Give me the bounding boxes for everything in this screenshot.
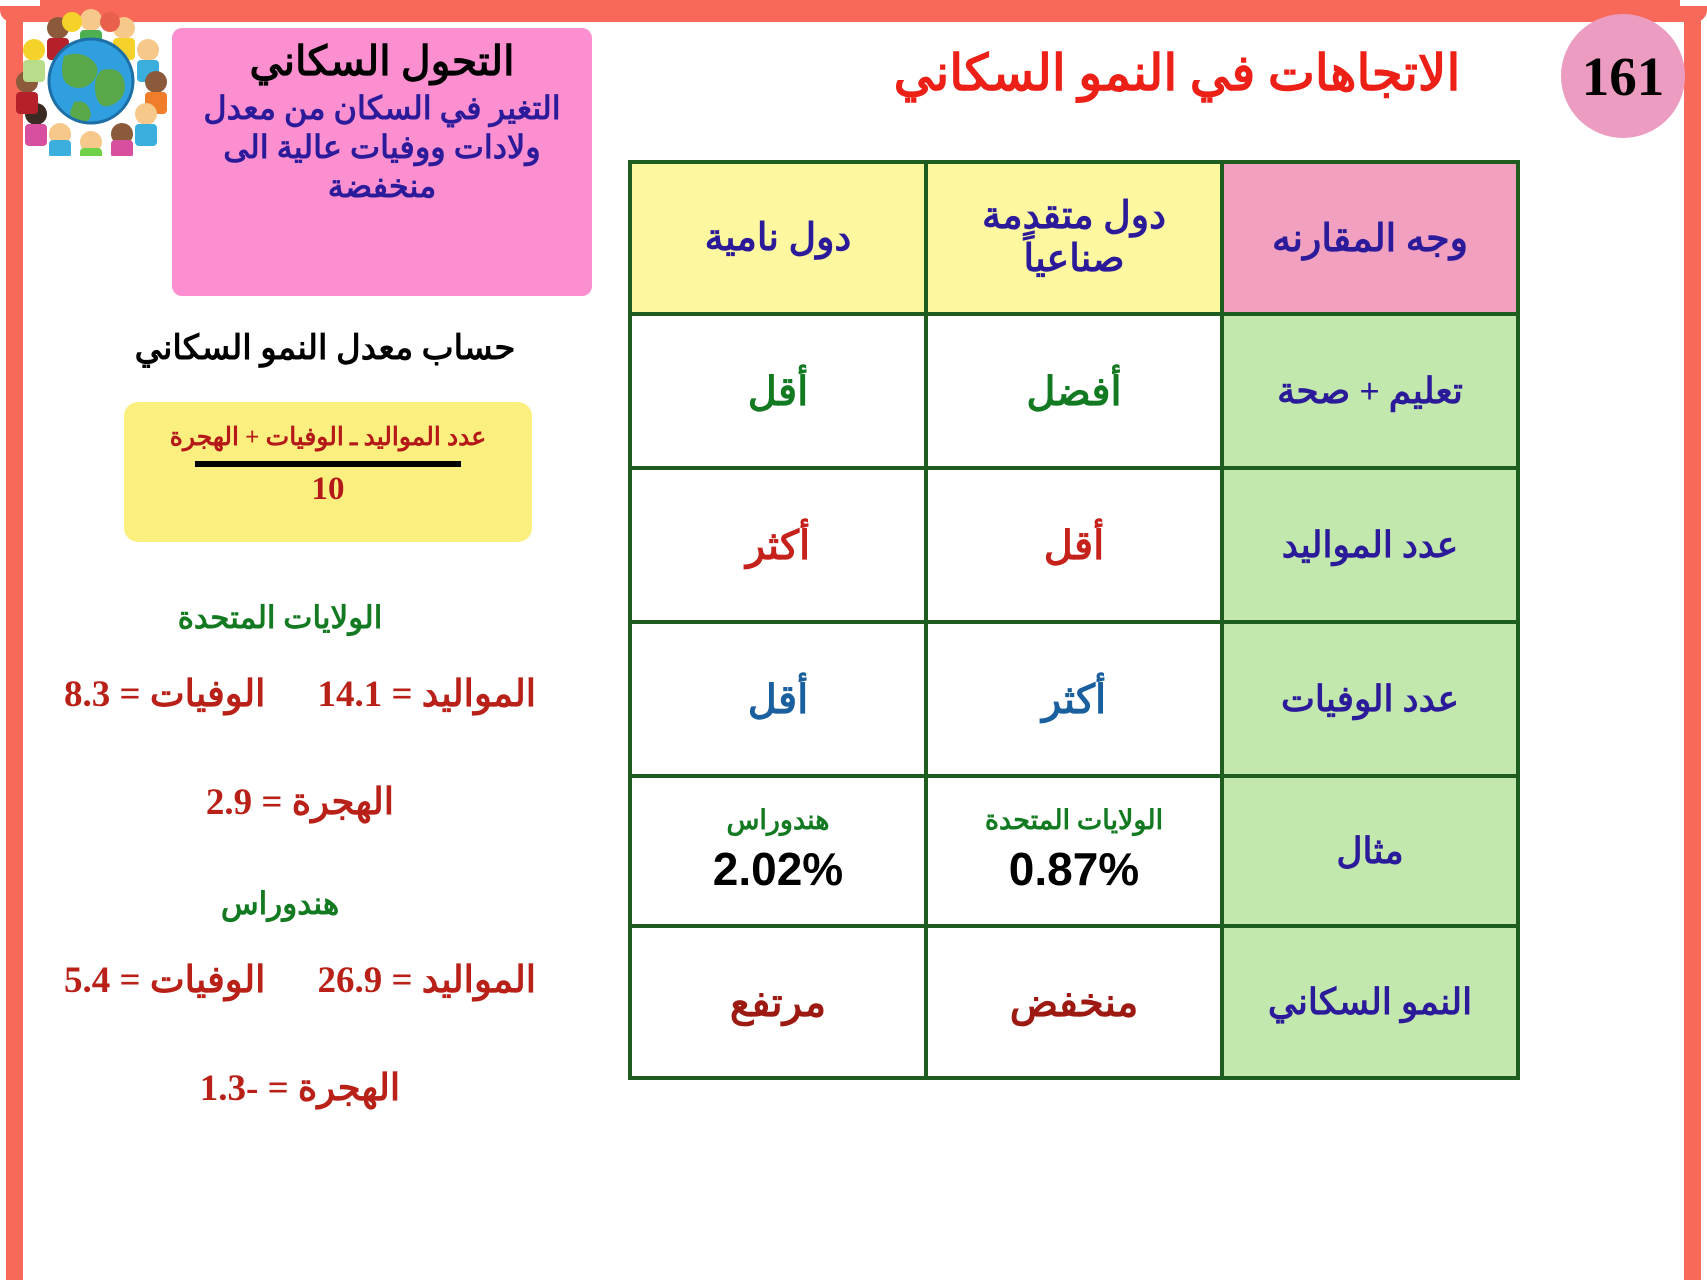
frame-top-bar: [0, 6, 1707, 22]
example-value-honduras: 2.02%: [632, 842, 924, 896]
honduras-country-label: هندوراس: [0, 886, 560, 922]
cell-developing-births: أكثر: [630, 468, 926, 622]
row-aspect-population-growth: النمو السكاني: [1222, 926, 1518, 1078]
usa-migration-label: الهجرة = 2.9: [0, 780, 600, 824]
cell-developing-example: هندوراس 2.02%: [630, 776, 926, 926]
table-row: عدد المواليد أقل أكثر: [630, 468, 1518, 622]
row-aspect-deaths: عدد الوفيات: [1222, 622, 1518, 776]
page-number-badge: 161: [1561, 14, 1685, 138]
frame-right-bar: [1684, 14, 1701, 1280]
honduras-births-label: المواليد = 26.9: [317, 958, 536, 1002]
table-row: عدد الوفيات أكثر أقل: [630, 622, 1518, 776]
cell-developing-growth: مرتفع: [630, 926, 926, 1078]
cell-industrial-example: الولايات المتحدة 0.87%: [926, 776, 1222, 926]
honduras-migration-label: الهجرة = -1.3: [0, 1066, 600, 1110]
usa-birth-death-row: المواليد = 14.1 الوفيات = 8.3: [0, 672, 600, 716]
example-value-usa: 0.87%: [928, 842, 1220, 896]
concept-definition-box: التحول السكاني التغير في السكان من معدل …: [172, 28, 592, 296]
slide-canvas: 161 الاتجاهات في النمو السكاني التحول ال…: [0, 0, 1707, 1280]
cell-industrial-births: أقل: [926, 468, 1222, 622]
row-aspect-births: عدد المواليد: [1222, 468, 1518, 622]
honduras-birth-death-row: المواليد = 26.9 الوفيات = 5.4: [0, 958, 600, 1002]
calculation-heading: حساب معدل النمو السكاني: [90, 328, 560, 368]
table-row: النمو السكاني منخفض مرتفع: [630, 926, 1518, 1078]
table-header-row: وجه المقارنه دول متقدمة صناعياً دول نامي…: [630, 162, 1518, 314]
formula-denominator: 10: [312, 471, 345, 508]
cell-industrial-growth: منخفض: [926, 926, 1222, 1078]
header-aspect: وجه المقارنه: [1222, 162, 1518, 314]
formula-divider-line: [195, 461, 461, 467]
usa-deaths-label: الوفيات = 8.3: [64, 672, 265, 716]
comparison-table: وجه المقارنه دول متقدمة صناعياً دول نامي…: [628, 160, 1520, 1080]
example-country-usa: الولايات المتحدة: [928, 806, 1220, 836]
concept-heading: التحول السكاني: [186, 38, 578, 85]
concept-body-text: التغير في السكان من معدل ولادات ووفيات ع…: [186, 89, 578, 206]
formula-numerator: عدد المواليد ـ الوفيات + الهجرة: [170, 422, 486, 452]
usa-births-label: المواليد = 14.1: [317, 672, 536, 716]
table-row: تعليم + صحة أفضل أقل: [630, 314, 1518, 468]
header-industrial: دول متقدمة صناعياً: [926, 162, 1222, 314]
usa-country-label: الولايات المتحدة: [0, 600, 560, 636]
honduras-deaths-label: الوفيات = 5.4: [64, 958, 265, 1002]
cell-industrial-education: أفضل: [926, 314, 1222, 468]
row-aspect-education-health: تعليم + صحة: [1222, 314, 1518, 468]
cell-developing-education: أقل: [630, 314, 926, 468]
growth-rate-formula-box: عدد المواليد ـ الوفيات + الهجرة 10: [124, 402, 532, 542]
globe-children-icon: [14, 6, 169, 156]
example-country-honduras: هندوراس: [632, 806, 924, 836]
row-aspect-example: مثال: [1222, 776, 1518, 926]
header-developing: دول نامية: [630, 162, 926, 314]
table-row: مثال الولايات المتحدة 0.87% هندوراس 2.02…: [630, 776, 1518, 926]
page-title: الاتجاهات في النمو السكاني: [807, 44, 1547, 102]
cell-industrial-deaths: أكثر: [926, 622, 1222, 776]
cell-developing-deaths: أقل: [630, 622, 926, 776]
